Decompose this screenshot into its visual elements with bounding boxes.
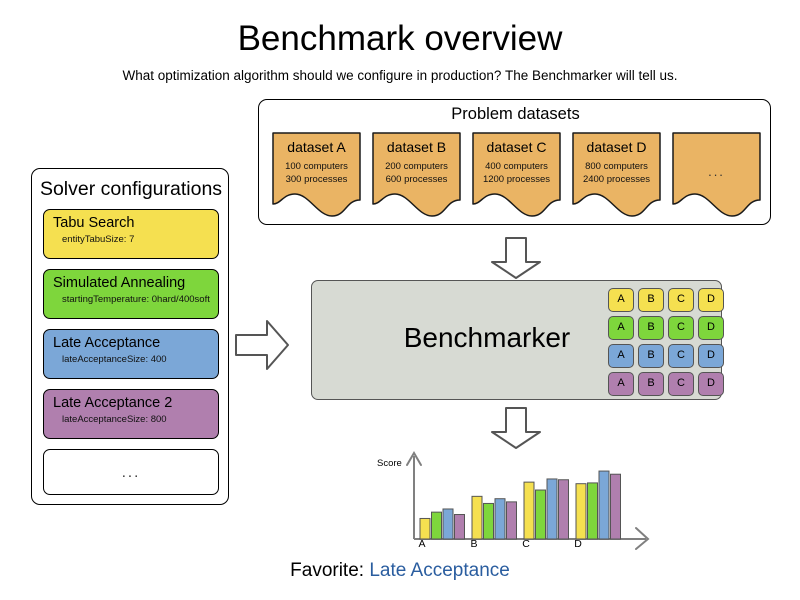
dataset-card-a[interactable]: dataset A 100 computers 300 processes <box>272 132 361 217</box>
benchmarker-label: Benchmarker <box>362 321 612 355</box>
solver-config-parameter: lateAcceptanceSize: 800 <box>53 413 218 427</box>
run-cell[interactable]: C <box>668 316 694 340</box>
run-cell[interactable]: B <box>638 288 664 312</box>
problem-datasets-title: Problem datasets <box>259 103 772 125</box>
dataset-processes: 1200 processes <box>472 173 561 186</box>
dataset-card-more[interactable]: ... <box>672 132 761 217</box>
solver-config-parameter: lateAcceptanceSize: 400 <box>53 353 218 367</box>
dataset-label: dataset A <box>272 138 361 156</box>
solver-config-parameter: startingTemperature: 0hard/400soft <box>53 293 218 307</box>
chart-bar <box>432 512 442 539</box>
solver-config-card-simulated-annealing[interactable]: Simulated Annealing startingTemperature:… <box>43 269 219 319</box>
run-cell[interactable]: C <box>668 344 694 368</box>
solver-configurations-title: Solver configurations <box>32 177 230 201</box>
solver-config-algorithm: Tabu Search <box>53 214 218 233</box>
dataset-label: dataset C <box>472 138 561 156</box>
chart-bar <box>507 502 517 539</box>
chart-bar <box>484 503 494 539</box>
dataset-card-c[interactable]: dataset C 400 computers 1200 processes <box>472 132 561 217</box>
chart-bar <box>455 515 465 539</box>
dataset-card-b[interactable]: dataset B 200 computers 600 processes <box>372 132 461 217</box>
solver-config-card-more[interactable]: ... <box>43 449 219 495</box>
run-cell[interactable]: D <box>698 372 724 396</box>
dataset-card-d[interactable]: dataset D 800 computers 2400 processes <box>572 132 661 217</box>
dataset-label: dataset D <box>572 138 661 156</box>
run-cell[interactable]: D <box>698 344 724 368</box>
run-cell[interactable]: A <box>608 344 634 368</box>
favorite-line: Favorite: Late Acceptance <box>0 558 800 584</box>
chart-bar <box>588 483 598 539</box>
benchmark-result-chart: Score A B C D <box>374 448 654 553</box>
benchmarker-box: Benchmarker A B C D A B C D A B C D A B … <box>311 280 722 400</box>
chart-bar <box>524 482 534 539</box>
arrow-solver-to-benchmarker-icon <box>234 318 290 377</box>
chart-bar <box>495 499 505 539</box>
arrow-datasets-to-benchmarker-icon <box>489 236 543 285</box>
run-cell[interactable]: C <box>668 372 694 396</box>
run-cell[interactable]: B <box>638 372 664 396</box>
chart-category-label: B <box>444 538 504 551</box>
run-cell[interactable]: B <box>638 344 664 368</box>
solver-config-parameter: entityTabuSize: 7 <box>53 233 218 247</box>
chart-bar <box>576 484 586 539</box>
page-subtitle: What optimization algorithm should we co… <box>0 67 800 85</box>
dataset-computers: 400 computers <box>472 160 561 173</box>
benchmarker-run-grid: A B C D A B C D A B C D A B C D <box>608 288 724 396</box>
problem-datasets-panel: Problem datasets dataset A 100 computers… <box>258 99 771 225</box>
run-cell[interactable]: A <box>608 372 634 396</box>
ellipsis-label: ... <box>122 464 141 481</box>
chart-bars <box>420 471 621 539</box>
solver-config-card-late-acceptance-2[interactable]: Late Acceptance 2 lateAcceptanceSize: 80… <box>43 389 219 439</box>
chart-category-label: A <box>392 538 452 551</box>
solver-config-card-late-acceptance[interactable]: Late Acceptance lateAcceptanceSize: 400 <box>43 329 219 379</box>
favorite-value: Late Acceptance <box>369 560 510 581</box>
dataset-processes: 300 processes <box>272 173 361 186</box>
chart-y-axis-label: Score <box>377 458 402 470</box>
run-cell[interactable]: A <box>608 288 634 312</box>
solver-config-card-tabu-search[interactable]: Tabu Search entityTabuSize: 7 <box>43 209 219 259</box>
dataset-label: dataset B <box>372 138 461 156</box>
dataset-processes: 600 processes <box>372 173 461 186</box>
dataset-computers: 200 computers <box>372 160 461 173</box>
solver-configurations-panel: Solver configurations Tabu Search entity… <box>31 168 229 505</box>
run-cell[interactable]: C <box>668 288 694 312</box>
solver-config-algorithm: Late Acceptance <box>53 334 218 353</box>
run-cell[interactable]: B <box>638 316 664 340</box>
run-cell[interactable]: A <box>608 316 634 340</box>
dataset-processes: 2400 processes <box>572 173 661 186</box>
ellipsis-label: ... <box>672 164 761 179</box>
chart-bar <box>536 490 546 539</box>
chart-bar <box>559 480 569 539</box>
dataset-computers: 800 computers <box>572 160 661 173</box>
run-cell[interactable]: D <box>698 316 724 340</box>
page-title: Benchmark overview <box>0 18 800 60</box>
chart-bar <box>420 518 430 539</box>
solver-config-algorithm: Simulated Annealing <box>53 274 218 293</box>
run-cell[interactable]: D <box>698 288 724 312</box>
chart-bar <box>547 479 557 539</box>
chart-bar <box>443 509 453 539</box>
chart-category-label: C <box>496 538 556 551</box>
favorite-prefix: Favorite: <box>290 560 364 581</box>
dataset-computers: 100 computers <box>272 160 361 173</box>
chart-bar <box>599 471 609 539</box>
chart-bar <box>472 496 482 539</box>
solver-config-algorithm: Late Acceptance 2 <box>53 394 218 413</box>
chart-bar <box>611 474 621 539</box>
chart-category-label: D <box>548 538 608 551</box>
